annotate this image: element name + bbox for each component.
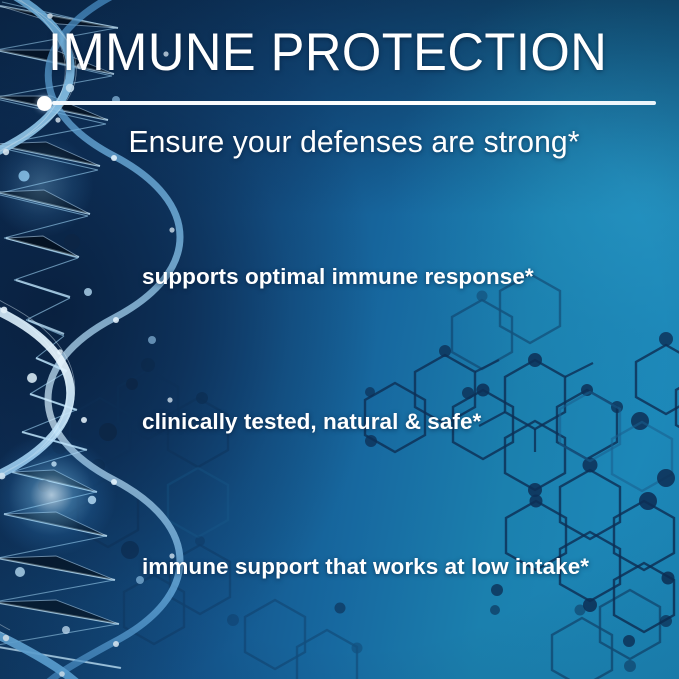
- benefit-item-2: clinically tested, natural & safe*: [142, 407, 662, 437]
- benefit-item-1: supports optimal immune response*: [142, 262, 662, 292]
- benefit-list: supports optimal immune response* clinic…: [142, 262, 662, 582]
- page-subtitle: Ensure your defenses are strong*: [57, 123, 651, 161]
- immune-protection-banner: IMMUNE PROTECTION Ensure your defenses a…: [0, 0, 679, 679]
- divider: [48, 95, 660, 111]
- divider-dot: [37, 96, 52, 111]
- headline-block: IMMUNE PROTECTION Ensure your defenses a…: [48, 24, 660, 161]
- divider-line: [52, 101, 656, 105]
- page-title: IMMUNE PROTECTION: [48, 24, 632, 82]
- benefit-item-3: immune support that works at low intake*: [142, 552, 662, 582]
